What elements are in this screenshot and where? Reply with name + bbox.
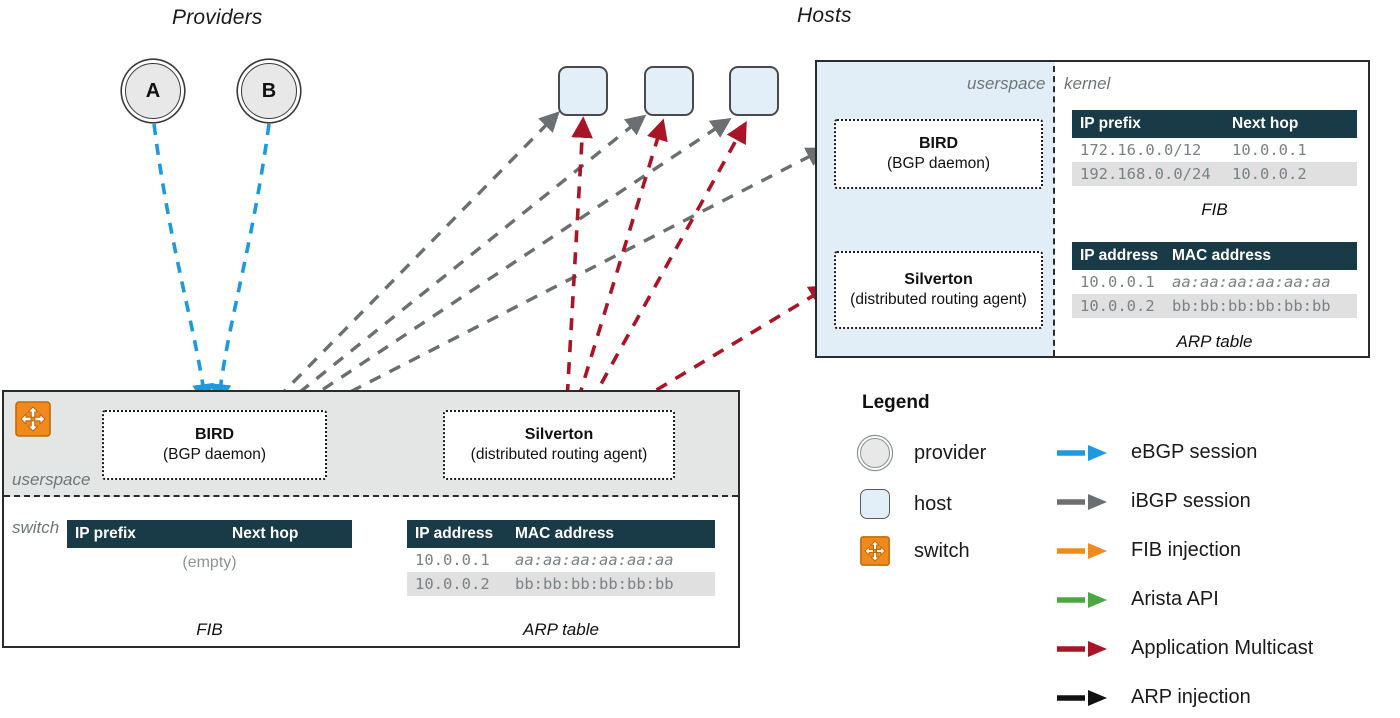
host-fib-row: 192.168.0.0/24 10.0.0.2 xyxy=(1072,162,1357,186)
host-arp-r2-c1: 10.0.0.2 xyxy=(1072,297,1172,315)
host-fib-r2-c1: 192.168.0.0/24 xyxy=(1072,165,1232,183)
ebgp-line-icon xyxy=(1055,442,1117,464)
ebgp-session-arrows xyxy=(154,124,269,400)
host-square-icon xyxy=(860,489,890,519)
ibgp-line-icon xyxy=(1055,491,1117,513)
host-fib-col-1: IP prefix xyxy=(1072,115,1232,133)
switch-arp-caption: ARP table xyxy=(407,620,715,640)
host-arp-header: IP address MAC address xyxy=(1072,242,1357,270)
legend-ebgp-label: eBGP session xyxy=(1131,441,1257,464)
legend-arista-label: Arista API xyxy=(1131,588,1219,611)
legend-ibgp-label: iBGP session xyxy=(1131,490,1251,513)
host-arp-r1-c1: 10.0.0.1 xyxy=(1072,273,1172,291)
host-arp-col-2: MAC address xyxy=(1172,247,1357,265)
host-fib-r1-c1: 172.16.0.0/12 xyxy=(1072,141,1232,159)
switch-fib-caption: FIB xyxy=(67,620,352,640)
host-bird-sub: (BGP daemon) xyxy=(887,154,990,174)
legend-multicast-item: Application Multicast xyxy=(1055,637,1313,660)
legend-switch-item: switch xyxy=(860,536,970,566)
provider-a-label: A xyxy=(146,80,160,103)
switch-bird-sub: (BGP daemon) xyxy=(163,445,266,465)
provider-b[interactable]: B xyxy=(241,63,297,119)
host-kernel-divider xyxy=(1053,66,1055,356)
host-kernel-label: kernel xyxy=(1064,74,1110,94)
legend-fib-item: FIB injection xyxy=(1055,539,1241,562)
host-bird-name: BIRD xyxy=(919,134,958,154)
legend-multicast-label: Application Multicast xyxy=(1131,637,1313,660)
switch-arp-col-1: IP address xyxy=(407,525,515,543)
legend-fib-label: FIB injection xyxy=(1131,539,1241,562)
switch-fib-col-2: Next hop xyxy=(232,525,352,543)
switch-arp-row: 10.0.0.1 aa:aa:aa:aa:aa:aa xyxy=(407,548,715,572)
host-silverton-box[interactable]: Silverton (distributed routing agent) xyxy=(834,251,1043,329)
host-arp-row: 10.0.0.1 aa:aa:aa:aa:aa:aa xyxy=(1072,270,1357,294)
host-fib-col-2: Next hop xyxy=(1232,115,1357,133)
legend-provider-item: provider xyxy=(860,438,986,468)
switch-fib-table: IP prefix Next hop (empty) xyxy=(67,520,352,572)
arp-injection-line-icon xyxy=(1055,687,1117,709)
host-fib-row: 172.16.0.0/12 10.0.0.1 xyxy=(1072,138,1357,162)
arista-api-line-icon xyxy=(1055,589,1117,611)
host-userspace-label: userspace xyxy=(967,74,1045,94)
legend-host-item: host xyxy=(860,489,952,519)
switch-silverton-name: Silverton xyxy=(525,425,593,445)
switch-panel: userspace switch BIRD (BGP daemon) Silve… xyxy=(2,390,740,648)
switch-silverton-sub: (distributed routing agent) xyxy=(471,445,648,465)
switch-userspace-divider xyxy=(4,495,738,497)
host-node-2[interactable] xyxy=(644,66,694,116)
legend-switch-label: switch xyxy=(914,540,970,563)
legend-arista-item: Arista API xyxy=(1055,588,1219,611)
host-silverton-name: Silverton xyxy=(904,270,972,290)
switch-icon xyxy=(860,536,890,566)
switch-fib-empty: (empty) xyxy=(67,548,352,572)
switch-arp-r1-c2: aa:aa:aa:aa:aa:aa xyxy=(515,551,715,569)
legend-title: Legend xyxy=(862,392,930,414)
switch-zone-label: switch xyxy=(12,518,59,538)
switch-arp-col-2: MAC address xyxy=(515,525,715,543)
switch-userspace-label: userspace xyxy=(12,470,90,490)
host-fib-table: IP prefix Next hop 172.16.0.0/12 10.0.0.… xyxy=(1072,110,1357,186)
host-fib-header: IP prefix Next hop xyxy=(1072,110,1357,138)
application-multicast-line-icon xyxy=(1055,638,1117,660)
host-arp-row: 10.0.0.2 bb:bb:bb:bb:bb:bb xyxy=(1072,294,1357,318)
switch-arp-table: IP address MAC address 10.0.0.1 aa:aa:aa… xyxy=(407,520,715,596)
provider-b-label: B xyxy=(262,80,276,103)
switch-arp-row: 10.0.0.2 bb:bb:bb:bb:bb:bb xyxy=(407,572,715,596)
diagram-canvas: Providers Hosts A B userspace kernel BIR… xyxy=(0,0,1400,718)
host-fib-r2-c2: 10.0.0.2 xyxy=(1232,165,1357,183)
switch-arp-r1-c1: 10.0.0.1 xyxy=(407,551,515,569)
ibgp-session-arrows xyxy=(262,115,822,432)
host-fib-r1-c2: 10.0.0.1 xyxy=(1232,141,1357,159)
switch-arp-r2-c2: bb:bb:bb:bb:bb:bb xyxy=(515,575,715,593)
host-arp-caption: ARP table xyxy=(1072,332,1357,352)
hosts-title: Hosts xyxy=(797,4,852,28)
switch-silverton-box[interactable]: Silverton (distributed routing agent) xyxy=(443,410,675,480)
legend-arp-item: ARP injection xyxy=(1055,686,1251,709)
switch-icon xyxy=(15,401,51,437)
legend-ibgp-item: iBGP session xyxy=(1055,490,1251,513)
host-arp-r1-c2: aa:aa:aa:aa:aa:aa xyxy=(1172,273,1357,291)
switch-fib-header: IP prefix Next hop xyxy=(67,520,352,548)
fib-injection-line-icon xyxy=(1055,540,1117,562)
host-fib-caption: FIB xyxy=(1072,200,1357,220)
switch-arp-r2-c1: 10.0.0.2 xyxy=(407,575,515,593)
host-silverton-sub: (distributed routing agent) xyxy=(850,290,1027,310)
legend-host-label: host xyxy=(914,493,952,516)
switch-bird-name: BIRD xyxy=(195,425,234,445)
legend-ebgp-item: eBGP session xyxy=(1055,441,1257,464)
switch-bird-box[interactable]: BIRD (BGP daemon) xyxy=(102,410,327,480)
host-bird-box[interactable]: BIRD (BGP daemon) xyxy=(834,119,1043,189)
host-arp-table: IP address MAC address 10.0.0.1 aa:aa:aa… xyxy=(1072,242,1357,318)
host-arp-col-1: IP address xyxy=(1072,247,1172,265)
legend-provider-label: provider xyxy=(914,442,986,465)
legend-arp-label: ARP injection xyxy=(1131,686,1251,709)
switch-arp-header: IP address MAC address xyxy=(407,520,715,548)
host-node-3[interactable] xyxy=(729,66,779,116)
host-node-1[interactable] xyxy=(558,66,608,116)
host-arp-r2-c2: bb:bb:bb:bb:bb:bb xyxy=(1172,297,1357,315)
host-panel: userspace kernel BIRD (BGP daemon) Silve… xyxy=(815,60,1370,358)
providers-title: Providers xyxy=(172,6,263,30)
switch-fib-col-1: IP prefix xyxy=(67,525,232,543)
provider-a[interactable]: A xyxy=(125,63,181,119)
provider-circle-icon xyxy=(860,438,890,468)
